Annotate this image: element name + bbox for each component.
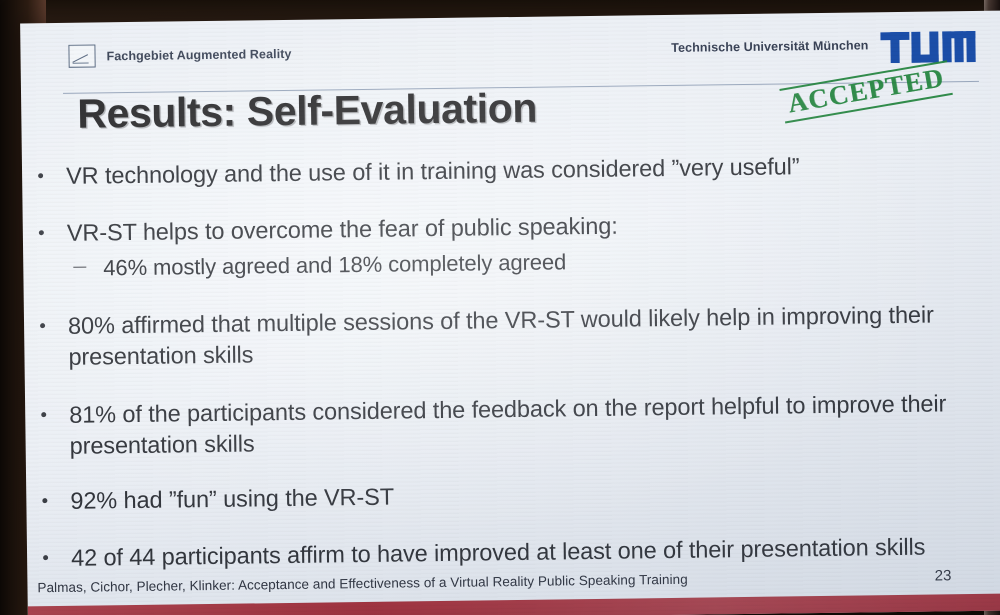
bullet-dot-icon [41, 412, 46, 417]
sub-bullet-text: 46% mostly agreed and 18% completely agr… [103, 249, 566, 280]
slide-header: Fachgebiet Augmented Reality Technische … [20, 31, 1000, 78]
bullet-item: VR-ST helps to overcome the fear of publ… [23, 206, 1000, 284]
photographed-slide-scene: Fachgebiet Augmented Reality Technische … [0, 0, 1000, 615]
bullet-text: 80% affirmed that multiple sessions of t… [68, 299, 993, 374]
bullet-text: VR technology and the use of it in train… [66, 149, 990, 192]
chair-label: Fachgebiet Augmented Reality [106, 46, 291, 62]
bullet-dot-icon [39, 230, 44, 235]
sub-bullet-item: 46% mostly agreed and 18% completely agr… [67, 242, 991, 283]
dash-icon [73, 266, 86, 267]
bullet-text: 81% of the participants considered the f… [69, 387, 994, 462]
header-chair-block: Fachgebiet Augmented Reality [68, 42, 291, 68]
bullet-item: VR technology and the use of it in train… [22, 149, 1000, 193]
page-number: 23 [935, 567, 994, 585]
bullet-dot-icon [42, 498, 47, 503]
bullet-item: 92% had ”fun” using the VR-ST [26, 474, 1000, 518]
bullet-item: 80% affirmed that multiple sessions of t… [24, 299, 1000, 374]
bullet-text: 92% had ”fun” using the VR-ST [70, 474, 994, 517]
university-label: Technische Universität München [671, 32, 869, 55]
bullet-dot-icon [38, 173, 43, 178]
presentation-slide: Fachgebiet Augmented Reality Technische … [20, 11, 1000, 615]
ar-chair-logo-icon [68, 44, 95, 67]
footer-red-bar [28, 594, 1000, 615]
tum-logo-icon [880, 31, 976, 66]
slide-body: VR technology and the use of it in train… [22, 149, 1000, 592]
bullet-dot-icon [40, 323, 45, 328]
bullet-text: VR-ST helps to overcome the fear of publ… [67, 206, 991, 249]
page-title: Results: Self-Evaluation [77, 85, 537, 138]
accepted-stamp: ACCEPTED [779, 60, 953, 123]
bullet-item: 81% of the participants considered the f… [25, 387, 1000, 462]
bullet-dot-icon [43, 555, 48, 560]
